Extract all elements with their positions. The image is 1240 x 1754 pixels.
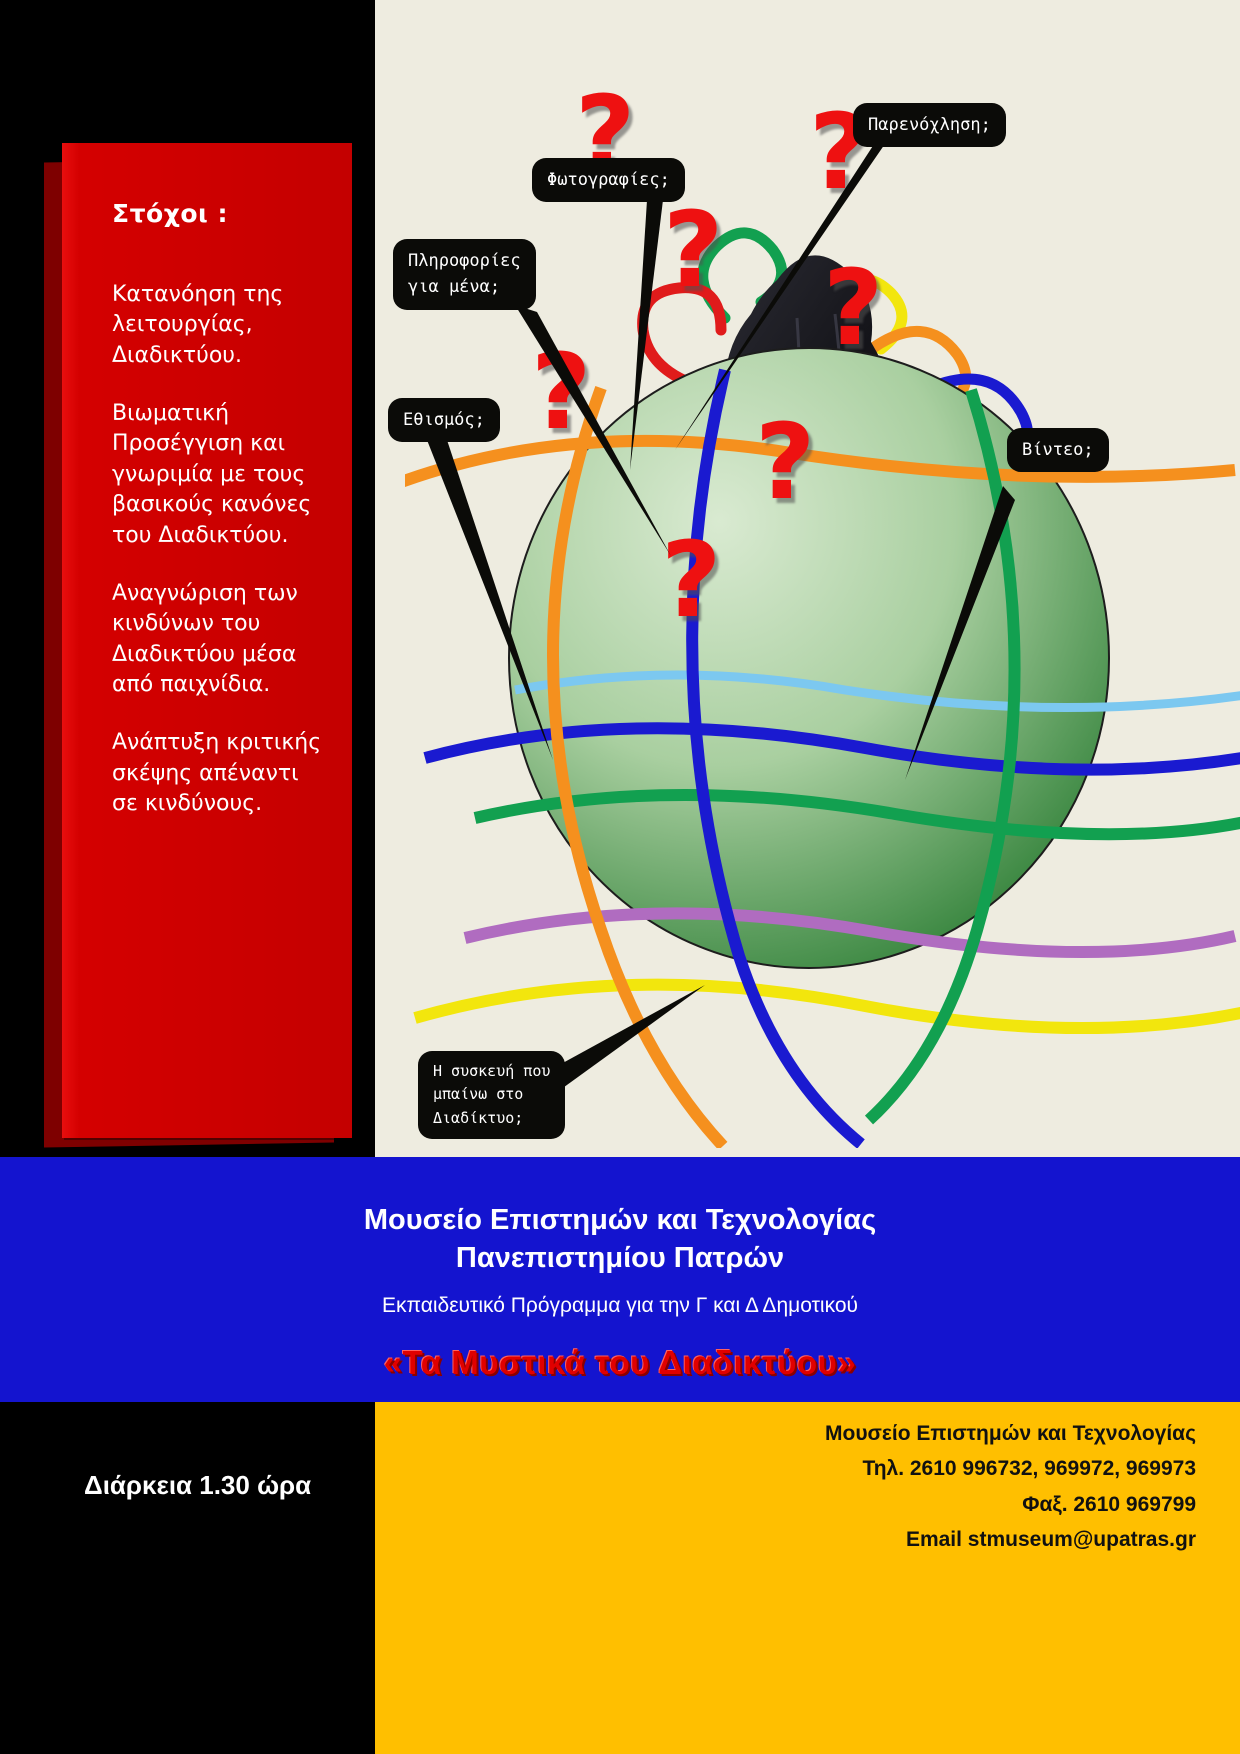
goals-card: Στόχοι : Κατανόηση της λειτουργίας, Διαδ… [62, 143, 352, 1138]
goal-item-1: Κατανόηση της λειτουργίας, Διαδικτύου. [112, 280, 326, 371]
organization-line-2: Πανεπιστημίου Πατρών [0, 1239, 1240, 1277]
bubble-device[interactable]: Η συσκευή που μπαίνω στο Διαδίκτυο; [418, 1051, 565, 1139]
contact-line-3: Φαξ. 2610 969799 [375, 1487, 1196, 1522]
tail-harassment [675, 135, 891, 450]
tail-addiction [427, 440, 553, 760]
goals-title: Στόχοι : [112, 199, 326, 228]
bubble-photos[interactable]: Φωτογραφίες; [532, 158, 685, 202]
bubble-pointer-tails [375, 0, 1240, 1157]
poster-root: ? ? ? ? ? ? ? Παρενόχληση; Φωτογραφίες; … [0, 0, 1240, 1754]
goals-list: Κατανόηση της λειτουργίας, Διαδικτύου. Β… [112, 280, 326, 819]
bubble-video[interactable]: Βίντεο; [1007, 428, 1109, 472]
contact-line-2: Τηλ. 2610 996732, 969972, 969973 [375, 1451, 1196, 1486]
organization-line-1: Μουσείο Επιστημών και Τεχνολογίας [0, 1201, 1240, 1239]
contact-line-1: Μουσείο Επιστημών και Τεχνολογίας [375, 1416, 1196, 1451]
program-line: Εκπαιδευτικό Πρόγραμμα για την Γ και Δ Δ… [0, 1294, 1240, 1318]
illustration-panel: ? ? ? ? ? ? ? Παρενόχληση; Φωτογραφίες; … [375, 0, 1240, 1157]
tail-info [515, 305, 671, 556]
show-title: «Τα Μυστικά του Διαδικτύου» [0, 1344, 1240, 1382]
goal-item-3: Αναγνώριση των κινδύνων του Διαδικτύου μ… [112, 579, 326, 700]
tail-device [550, 985, 705, 1090]
goal-item-2: Βιωματική Προσέγγιση και γνωριμία με του… [112, 399, 326, 551]
tail-video [905, 486, 1015, 780]
footer-blue-band: Μουσείο Επιστημών και Τεχνολογίας Πανεπι… [0, 1157, 1240, 1402]
duration-label: Διάρκεια 1.30 ώρα [84, 1470, 311, 1501]
goal-item-4: Ανάπτυξη κριτικής σκέψης απέναντι σε κιν… [112, 728, 326, 819]
contact-box: Μουσείο Επιστημών και Τεχνολογίας Τηλ. 2… [375, 1402, 1240, 1754]
tail-photos [630, 200, 663, 470]
bubble-info-about-me[interactable]: Πληροφορίες για μένα; [393, 239, 536, 310]
bubble-addiction[interactable]: Εθισμός; [388, 398, 500, 442]
bubble-harassment[interactable]: Παρενόχληση; [853, 103, 1006, 147]
contact-email: Email stmuseum@upatras.gr [375, 1522, 1196, 1557]
